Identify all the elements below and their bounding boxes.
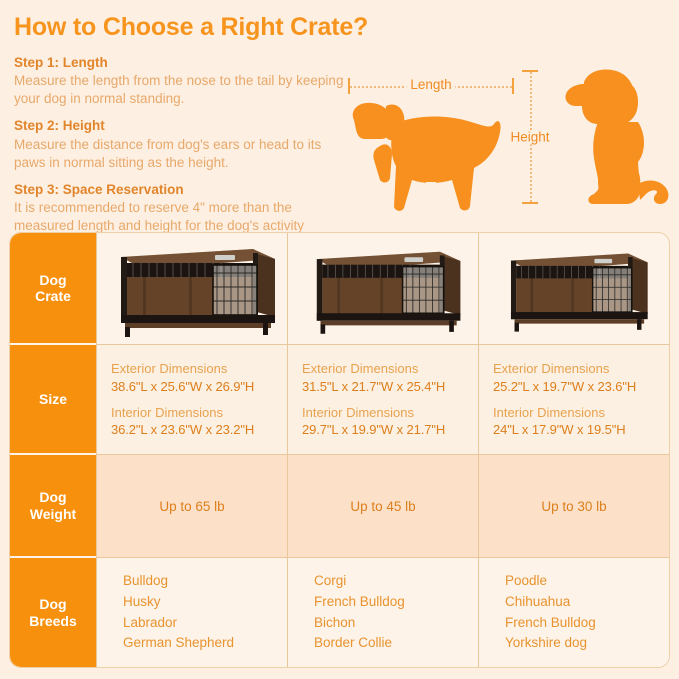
breed-item: Bichon xyxy=(314,613,478,634)
height-bracket-cap-bottom xyxy=(522,202,538,204)
size-cell-3: Exterior Dimensions 25.2"L x 19.7"W x 23… xyxy=(478,345,669,454)
dog-standing-silhouette-icon xyxy=(342,94,518,214)
size-cells: Exterior Dimensions 38.6"L x 25.6"W x 26… xyxy=(96,345,669,455)
exterior-dimensions-value-1: 38.6"L x 25.6"W x 26.9"H xyxy=(111,378,287,396)
crate-comparison-table: Dog Crate xyxy=(9,232,670,668)
exterior-dimensions-value-3: 25.2"L x 19.7"W x 23.6"H xyxy=(493,378,669,396)
length-bracket-cap-right xyxy=(512,78,514,94)
breed-item: Husky xyxy=(123,592,287,613)
exterior-dimensions-group-1: Exterior Dimensions 38.6"L x 25.6"W x 26… xyxy=(111,360,287,395)
interior-dimensions-title-2: Interior Dimensions xyxy=(302,404,478,422)
exterior-dimensions-group-3: Exterior Dimensions 25.2"L x 19.7"W x 23… xyxy=(493,360,669,395)
exterior-dimensions-title-3: Exterior Dimensions xyxy=(493,360,669,378)
dog-measurement-diagram: Length Height xyxy=(336,58,672,218)
table-row-size: Size Exterior Dimensions 38.6"L x 25.6"W… xyxy=(10,345,669,455)
breed-item: Labrador xyxy=(123,613,287,634)
dog-sitting-silhouette-icon xyxy=(554,66,672,208)
interior-dimensions-title-1: Interior Dimensions xyxy=(111,404,287,422)
breed-item: Bulldog xyxy=(123,571,287,592)
row-label-line-1: Dog xyxy=(39,272,66,288)
exterior-dimensions-group-2: Exterior Dimensions 31.5"L x 21.7"W x 25… xyxy=(302,360,478,395)
weight-cell-1: Up to 65 lb xyxy=(96,455,287,557)
breeds-cell-1: Bulldog Husky Labrador German Shepherd xyxy=(96,558,287,667)
breed-item: German Shepherd xyxy=(123,633,287,654)
weight-value-1: Up to 65 lb xyxy=(159,499,224,514)
breed-item: Poodle xyxy=(505,571,669,592)
table-row-dog-crate: Dog Crate xyxy=(10,233,669,345)
interior-dimensions-value-3: 24"L x 17.9"W x 19.5"H xyxy=(493,421,669,439)
step-1-heading: Step 1: Length xyxy=(14,55,344,72)
dog-crate-photo-2 xyxy=(300,240,466,338)
crate-image-cell-1 xyxy=(96,233,287,344)
size-cell-1: Exterior Dimensions 38.6"L x 25.6"W x 26… xyxy=(96,345,287,454)
interior-dimensions-group-2: Interior Dimensions 29.7"L x 19.9"W x 21… xyxy=(302,404,478,439)
breed-item: Border Collie xyxy=(314,633,478,654)
table-row-dog-weight: Dog Weight Up to 65 lb Up to 45 lb Up to… xyxy=(10,455,669,558)
row-label-line-1: Dog xyxy=(39,489,66,505)
weight-value-2: Up to 45 lb xyxy=(350,499,415,514)
height-bracket: Height xyxy=(522,70,538,204)
header-section: How to Choose a Right Crate? Step 1: Len… xyxy=(0,0,679,216)
breed-item: Corgi xyxy=(314,571,478,592)
length-label: Length xyxy=(406,78,455,92)
step-3-heading: Step 3: Space Reservation xyxy=(14,182,344,199)
row-label-dog-breeds: Dog Breeds xyxy=(10,558,96,667)
breeds-cells: Bulldog Husky Labrador German Shepherd C… xyxy=(96,558,669,667)
row-label-line-1: Dog xyxy=(39,596,66,612)
row-label-line-2: Breeds xyxy=(29,613,76,629)
breeds-cell-3: Poodle Chihuahua French Bulldog Yorkshir… xyxy=(478,558,669,667)
size-cell-2: Exterior Dimensions 31.5"L x 21.7"W x 25… xyxy=(287,345,478,454)
weight-cells: Up to 65 lb Up to 45 lb Up to 30 lb xyxy=(96,455,669,558)
breeds-cell-2: Corgi French Bulldog Bichon Border Colli… xyxy=(287,558,478,667)
step-block-2: Step 2: Height Measure the distance from… xyxy=(14,118,344,172)
breed-item: Chihuahua xyxy=(505,592,669,613)
step-1-body: Measure the length from the nose to the … xyxy=(14,72,344,108)
row-label-size: Size xyxy=(10,345,96,455)
dog-crate-photo-3 xyxy=(495,242,653,336)
interior-dimensions-group-1: Interior Dimensions 36.2"L x 23.6"W x 23… xyxy=(111,404,287,439)
exterior-dimensions-title-1: Exterior Dimensions xyxy=(111,360,287,378)
exterior-dimensions-title-2: Exterior Dimensions xyxy=(302,360,478,378)
breed-item: Yorkshire dog xyxy=(505,633,669,654)
table-row-dog-breeds: Dog Breeds Bulldog Husky Labrador German… xyxy=(10,558,669,667)
crate-image-cell-3 xyxy=(478,233,669,344)
dog-crate-photo-1 xyxy=(103,239,281,339)
row-label-dog-weight: Dog Weight xyxy=(10,455,96,558)
exterior-dimensions-value-2: 31.5"L x 21.7"W x 25.4"H xyxy=(302,378,478,396)
interior-dimensions-group-3: Interior Dimensions 24"L x 17.9"W x 19.5… xyxy=(493,404,669,439)
weight-cell-2: Up to 45 lb xyxy=(287,455,478,557)
height-label: Height xyxy=(506,130,553,144)
crate-image-cell-2 xyxy=(287,233,478,344)
interior-dimensions-value-2: 29.7"L x 19.9"W x 21.7"H xyxy=(302,421,478,439)
breed-item: French Bulldog xyxy=(314,592,478,613)
page-title: How to Choose a Right Crate? xyxy=(14,14,679,42)
interior-dimensions-title-3: Interior Dimensions xyxy=(493,404,669,422)
weight-cell-3: Up to 30 lb xyxy=(478,455,669,557)
interior-dimensions-value-1: 36.2"L x 23.6"W x 23.2"H xyxy=(111,421,287,439)
weight-value-3: Up to 30 lb xyxy=(541,499,606,514)
step-2-body: Measure the distance from dog's ears or … xyxy=(14,136,344,172)
step-2-heading: Step 2: Height xyxy=(14,118,344,135)
row-label-line-2: Weight xyxy=(30,506,76,522)
length-bracket: Length xyxy=(348,78,514,94)
step-block-1: Step 1: Length Measure the length from t… xyxy=(14,55,344,109)
row-label-dog-crate: Dog Crate xyxy=(10,233,96,345)
crate-image-cells xyxy=(96,233,669,345)
breed-item: French Bulldog xyxy=(505,613,669,634)
row-label-line-2: Crate xyxy=(35,288,71,304)
